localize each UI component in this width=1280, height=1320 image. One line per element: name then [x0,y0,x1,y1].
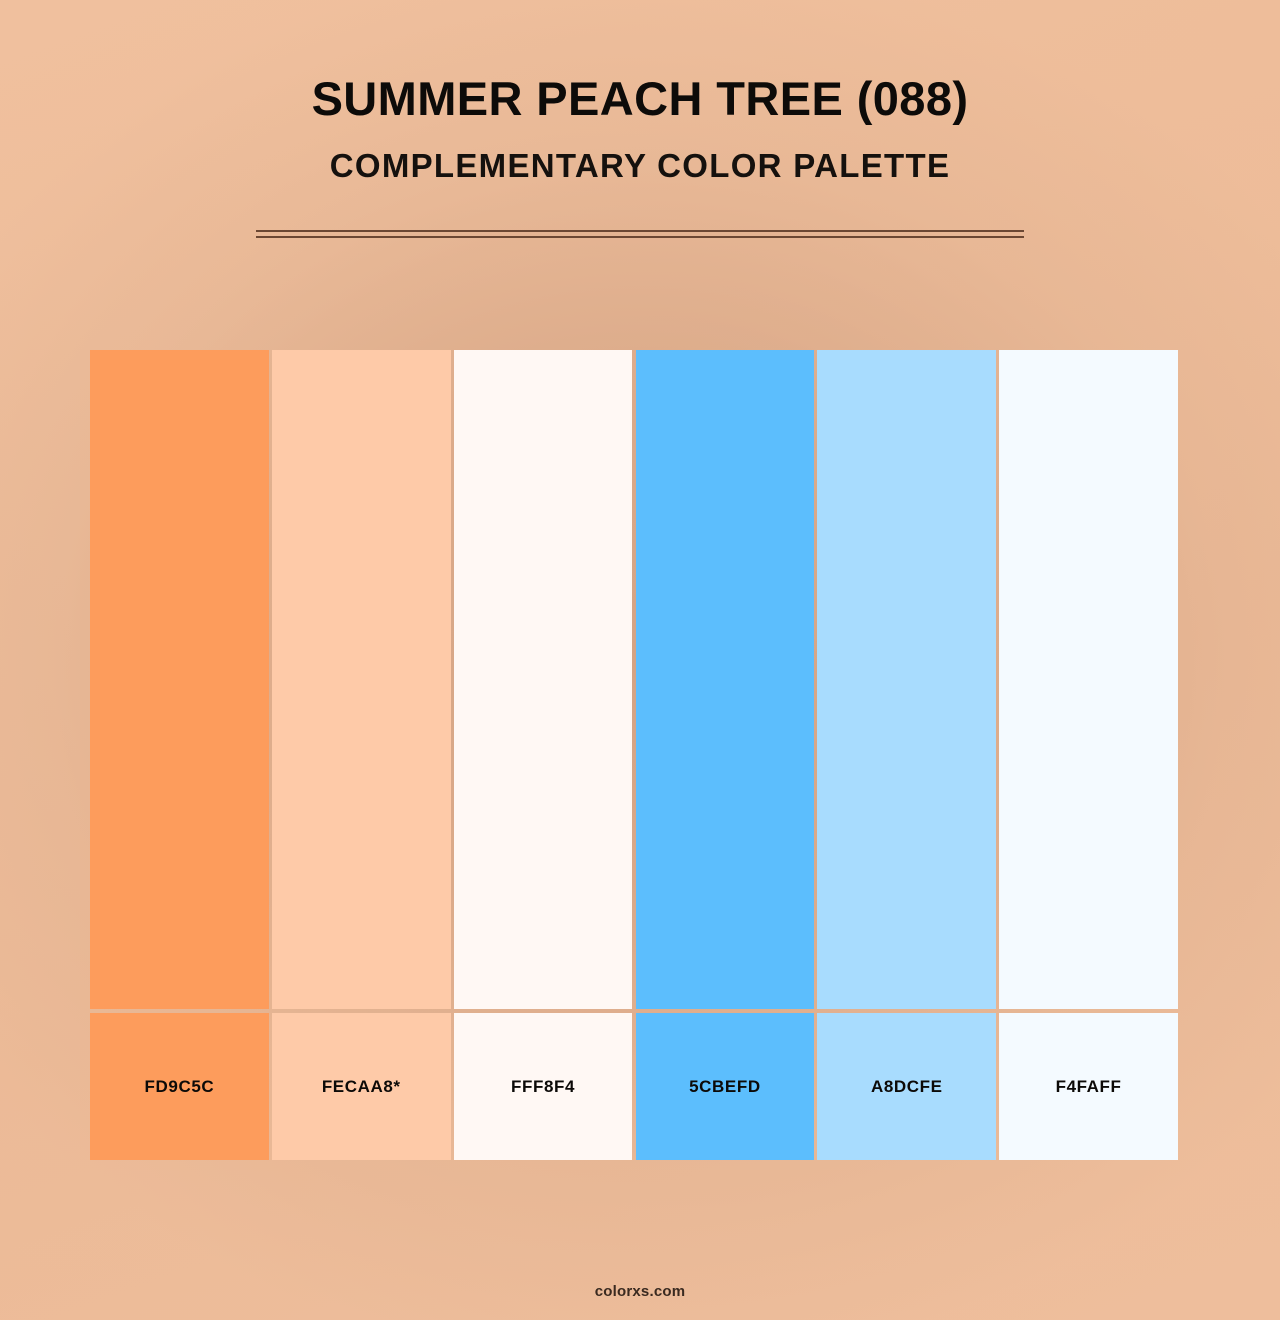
divider-line-bottom [256,236,1024,238]
color-palette-page: SUMMER PEACH TREE (088) COMPLEMENTARY CO… [0,0,1280,1320]
swatch-hex-label: FECAA8* [322,1077,401,1097]
swatch-color-block[interactable] [817,350,996,1009]
swatch-hex-label: A8DCFE [871,1077,943,1097]
page-subtitle: COMPLEMENTARY COLOR PALETTE [0,124,1280,184]
swatch-color-block[interactable] [636,350,815,1009]
swatch-color-block[interactable] [999,350,1178,1009]
divider-line-top [256,230,1024,232]
site-credit: colorxs.com [595,1283,686,1300]
page-title: SUMMER PEACH TREE (088) [0,0,1280,124]
swatch-column[interactable]: FFF8F4 [454,350,633,1160]
title-divider [256,230,1024,238]
swatch-hex-label: 5CBEFD [689,1077,761,1097]
palette-grid: FD9C5CFECAA8*FFF8F45CBEFDA8DCFEF4FAFF [90,350,1178,1160]
swatch-label-block[interactable]: FFF8F4 [454,1013,633,1160]
swatch-color-block[interactable] [454,350,633,1009]
swatch-hex-label: FD9C5C [145,1077,215,1097]
swatch-color-block[interactable] [90,350,269,1009]
swatch-color-block[interactable] [272,350,451,1009]
swatch-column[interactable]: FECAA8* [272,350,451,1160]
swatch-label-block[interactable]: F4FAFF [999,1013,1178,1160]
swatch-label-block[interactable]: A8DCFE [817,1013,996,1160]
footer: colorxs.com [0,1283,1280,1301]
swatch-label-block[interactable]: FECAA8* [272,1013,451,1160]
swatch-column[interactable]: FD9C5C [90,350,269,1160]
swatch-hex-label: FFF8F4 [511,1077,575,1097]
swatch-label-block[interactable]: FD9C5C [90,1013,269,1160]
header: SUMMER PEACH TREE (088) COMPLEMENTARY CO… [0,0,1280,184]
swatch-column[interactable]: 5CBEFD [636,350,815,1160]
swatch-label-block[interactable]: 5CBEFD [636,1013,815,1160]
swatch-column[interactable]: A8DCFE [817,350,996,1160]
swatch-column[interactable]: F4FAFF [999,350,1178,1160]
swatch-hex-label: F4FAFF [1056,1077,1122,1097]
